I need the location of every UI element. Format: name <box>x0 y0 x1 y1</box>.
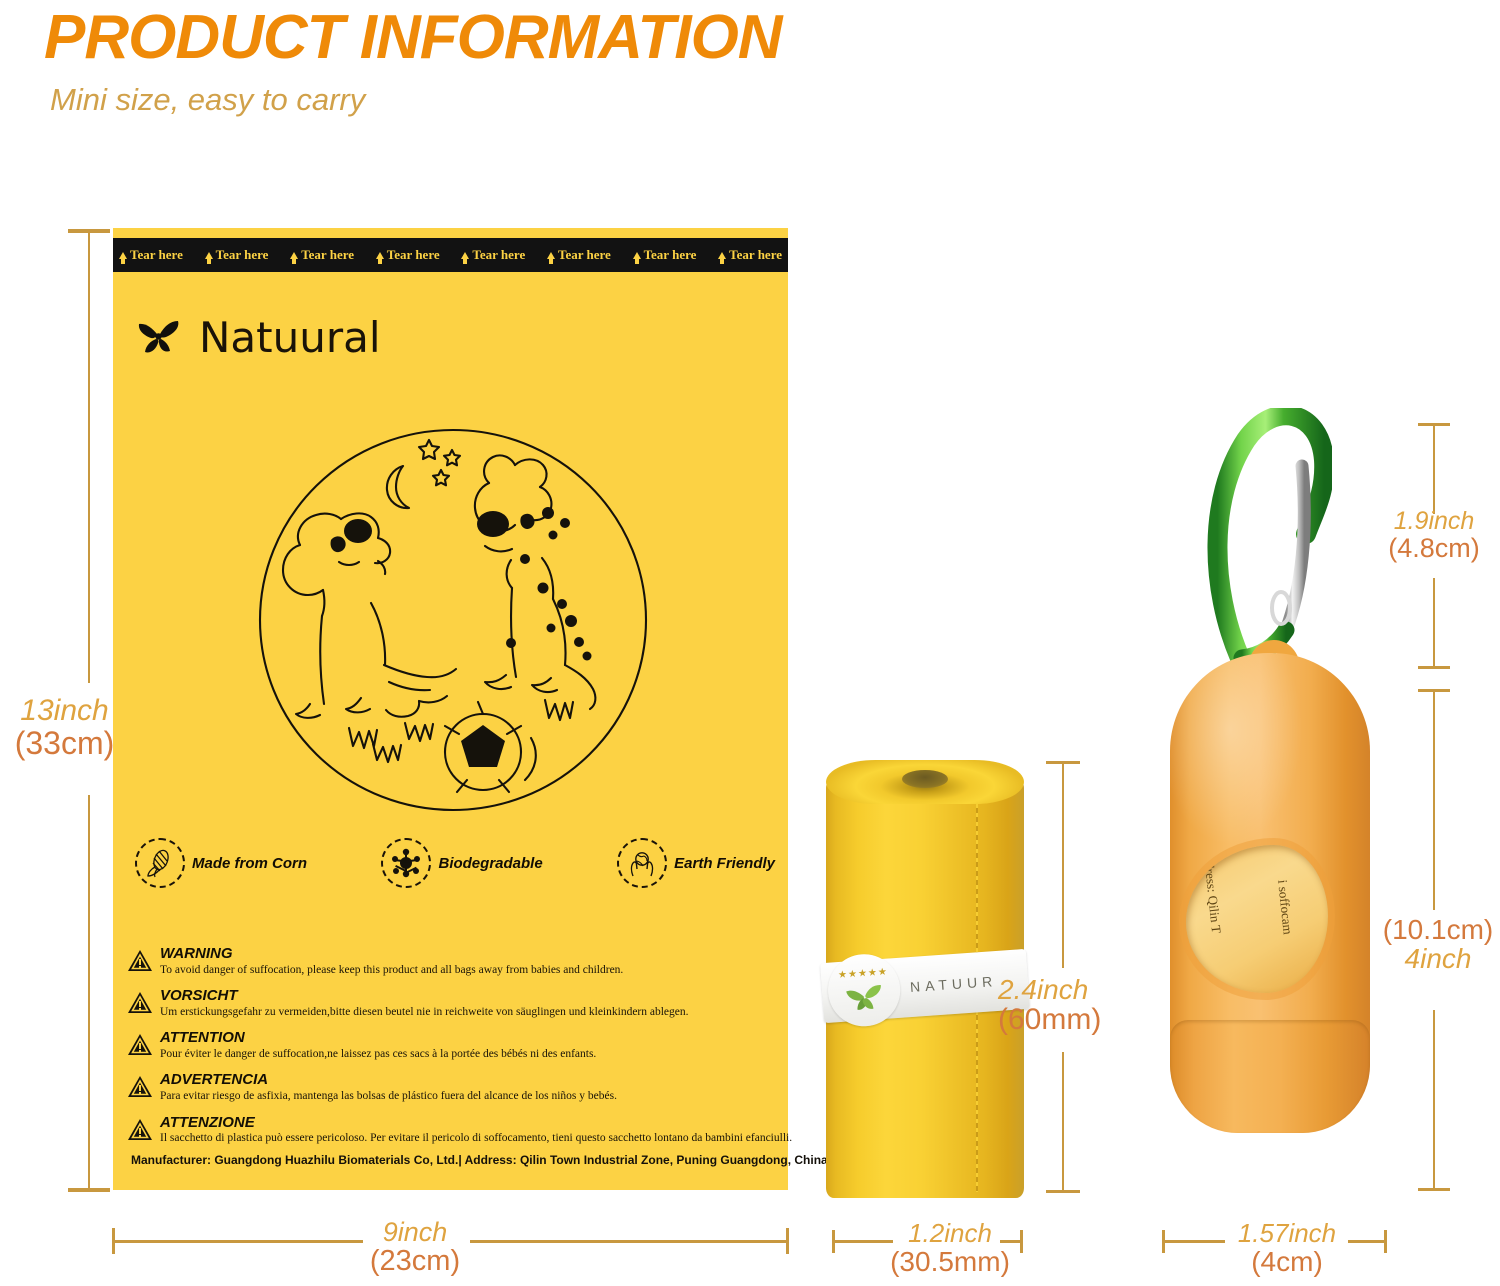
dim-metric: (4cm) <box>1212 1247 1362 1276</box>
dim-cap-carabiner-top <box>1418 423 1450 426</box>
dim-inch: 1.57inch <box>1238 1218 1336 1248</box>
warning-item: ATTENTION Pour éviter le danger de suffo… <box>127 1030 775 1061</box>
dim-inch: 9inch <box>383 1217 448 1247</box>
dim-cap-dispenser-width-left <box>1162 1230 1165 1253</box>
badge-label: Biodegradable <box>438 855 542 872</box>
warning-triangle-icon <box>127 1075 153 1098</box>
tear-here-item: Tear here <box>376 247 440 263</box>
dim-label-bag-width: 9inch (23cm) <box>365 1218 465 1277</box>
tear-here-label: Tear here <box>387 247 440 263</box>
tear-here-item: Tear here <box>547 247 611 263</box>
brand-lockup: Natuural <box>133 313 381 362</box>
dim-metric: (60mm) <box>998 1004 1148 1036</box>
dim-line-bag-height-mid <box>88 425 90 683</box>
dim-cap-bag-width-right <box>786 1228 789 1254</box>
dim-cap-carabiner-bottom <box>1418 666 1450 669</box>
roll-band-brand-text: NATUUR <box>909 973 997 995</box>
up-arrow-icon <box>205 252 213 259</box>
tear-here-label: Tear here <box>644 247 697 263</box>
butterfly-flower-logo-icon <box>133 314 185 362</box>
dim-label-roll-height: 2.4inch (60mm) <box>998 975 1148 1036</box>
warning-body: Pour éviter le danger de suffocation,ne … <box>160 1047 596 1061</box>
warning-body: To avoid danger of suffocation, please k… <box>160 963 623 977</box>
dim-line-roll-height-lower <box>1062 1052 1064 1192</box>
badge-label: Earth Friendly <box>674 855 775 872</box>
warning-triangle-icon <box>127 1033 153 1056</box>
dispenser-bottom-cap <box>1170 1020 1370 1133</box>
green-leaves-icon <box>843 978 885 1013</box>
dim-cap-roll-width-right <box>1020 1230 1023 1253</box>
tear-here-item: Tear here <box>633 247 697 263</box>
dim-line-carabiner-upper <box>1433 424 1435 514</box>
product-bag-image: Tear here Tear here Tear here Tear here … <box>113 228 788 1190</box>
up-arrow-icon <box>461 252 469 259</box>
warning-triangle-icon <box>127 1118 153 1141</box>
up-arrow-icon <box>290 252 298 259</box>
dim-metric: (10.1cm) <box>1376 915 1500 944</box>
warning-item: ADVERTENCIA Para evitar riesgo de asfixi… <box>127 1072 775 1103</box>
up-arrow-icon <box>119 252 127 259</box>
warning-heading: ATTENTION <box>160 1030 596 1046</box>
dim-cap-roll-width-left <box>832 1230 835 1253</box>
badge-label: Made from Corn <box>192 855 307 872</box>
page-title: PRODUCT INFORMATION <box>44 2 782 73</box>
tear-here-label: Tear here <box>472 247 525 263</box>
dim-label-dispenser-width: 1.57inch (4cm) <box>1212 1220 1362 1277</box>
warning-heading: ADVERTENCIA <box>160 1072 617 1088</box>
dim-line-roll-width-right <box>1000 1240 1022 1243</box>
warning-item: WARNING To avoid danger of suffocation, … <box>127 946 775 977</box>
dim-line-dispenser-width-right <box>1348 1240 1386 1243</box>
dim-line-roll-height-upper <box>1062 762 1064 968</box>
page-subtitle: Mini size, easy to carry <box>50 82 365 118</box>
dim-line-dispenser-height-lower <box>1433 1010 1435 1190</box>
tear-here-label: Tear here <box>130 247 183 263</box>
dim-line-dispenser-height-upper <box>1433 690 1435 910</box>
dim-line-bag-width-left <box>113 1240 363 1243</box>
bag-roll-image: ★★★★★ NATUUR <box>826 760 1024 1198</box>
feature-badges: Made from Corn <box>135 838 775 888</box>
dim-metric: (33cm) <box>2 727 127 761</box>
dim-inch: 2.4inch <box>998 974 1088 1005</box>
tear-here-item: Tear here <box>718 247 782 263</box>
molecule-icon <box>381 838 431 888</box>
dim-line-carabiner-lower <box>1433 578 1435 668</box>
warning-item: ATTENZIONE Il sacchetto di plastica può … <box>127 1115 775 1146</box>
dim-cap-dispenser-width-right <box>1384 1230 1387 1253</box>
tear-here-item: Tear here <box>205 247 269 263</box>
badge-made-from-corn: Made from Corn <box>135 838 307 888</box>
two-dogs-night-illustration <box>253 428 653 813</box>
dim-label-carabiner-height: 1.9inch (4.8cm) <box>1372 508 1496 563</box>
warning-item: VORSICHT Um erstickungsgefahr zu vermeid… <box>127 988 775 1019</box>
warning-triangle-icon <box>127 991 153 1014</box>
tear-here-item: Tear here <box>461 247 525 263</box>
dim-inch: 13inch <box>20 694 108 727</box>
warning-body: Il sacchetto di plastica può essere peri… <box>160 1131 792 1145</box>
tear-here-label: Tear here <box>558 247 611 263</box>
corn-cob-icon <box>135 838 185 888</box>
dim-cap-bag-height-top <box>68 229 110 233</box>
dim-inch: 1.9inch <box>1394 507 1475 535</box>
dim-line-bag-height-upper <box>88 230 90 425</box>
warning-list: WARNING To avoid danger of suffocation, … <box>127 946 775 1157</box>
manufacturer-address-line: Manufacturer: Guangdong Huazhilu Biomate… <box>131 1153 828 1167</box>
warning-body: Um erstickungsgefahr zu vermeiden,bitte … <box>160 1005 689 1019</box>
dim-line-bag-width-right <box>470 1240 788 1243</box>
warning-heading: WARNING <box>160 946 623 962</box>
tear-here-item: Tear here <box>290 247 354 263</box>
dispenser-image: ddress: Qilin T i soffocam <box>1150 408 1390 1198</box>
illustration-circle-border <box>260 430 646 810</box>
dim-label-roll-width: 1.2inch (30.5mm) <box>880 1220 1020 1277</box>
dim-metric: (4.8cm) <box>1372 534 1496 562</box>
up-arrow-icon <box>547 252 555 259</box>
dispenser-opening-window: ddress: Qilin T i soffocam <box>1186 845 1328 993</box>
window-text-address: ddress: Qilin T <box>1200 855 1224 934</box>
dim-inch: 4inch <box>1376 944 1500 973</box>
dim-cap-roll-height-top <box>1046 761 1080 764</box>
tear-here-label: Tear here <box>729 247 782 263</box>
brand-name: Natuural <box>199 313 381 362</box>
dim-label-bag-height: 13inch (33cm) <box>2 695 127 760</box>
dim-cap-dispenser-height-top <box>1418 689 1450 692</box>
dim-inch: 1.2inch <box>908 1218 992 1248</box>
dim-metric: (23cm) <box>365 1246 465 1276</box>
dim-label-dispenser-height: (10.1cm) 4inch <box>1376 915 1500 974</box>
up-arrow-icon <box>376 252 384 259</box>
roll-label-disc: ★★★★★ <box>826 952 903 1029</box>
up-arrow-icon <box>718 252 726 259</box>
up-arrow-icon <box>633 252 641 259</box>
hands-holding-globe-icon <box>617 838 667 888</box>
roll-top-face <box>826 760 1024 804</box>
tear-here-item: Tear here <box>119 247 183 263</box>
dim-metric: (30.5mm) <box>880 1247 1020 1276</box>
dim-line-bag-height-lower <box>88 795 90 1190</box>
tear-here-label: Tear here <box>216 247 269 263</box>
tear-here-label: Tear here <box>301 247 354 263</box>
badge-earth-friendly: Earth Friendly <box>617 838 775 888</box>
dim-cap-dispenser-height-bottom <box>1418 1188 1450 1191</box>
roll-core-hole <box>902 770 948 788</box>
green-carabiner-icon <box>1202 408 1332 670</box>
dim-cap-bag-height-bottom <box>68 1188 110 1192</box>
badge-biodegradable: Biodegradable <box>381 838 542 888</box>
dim-cap-bag-width-left <box>112 1228 115 1254</box>
warning-heading: VORSICHT <box>160 988 689 1004</box>
tear-here-strip: Tear here Tear here Tear here Tear here … <box>113 238 788 272</box>
warning-heading: ATTENZIONE <box>160 1115 792 1131</box>
dim-cap-roll-height-bottom <box>1046 1190 1080 1193</box>
warning-triangle-icon <box>127 949 153 972</box>
warning-body: Para evitar riesgo de asfixia, mantenga … <box>160 1089 617 1103</box>
window-text-warning: i soffocam <box>1274 879 1296 935</box>
